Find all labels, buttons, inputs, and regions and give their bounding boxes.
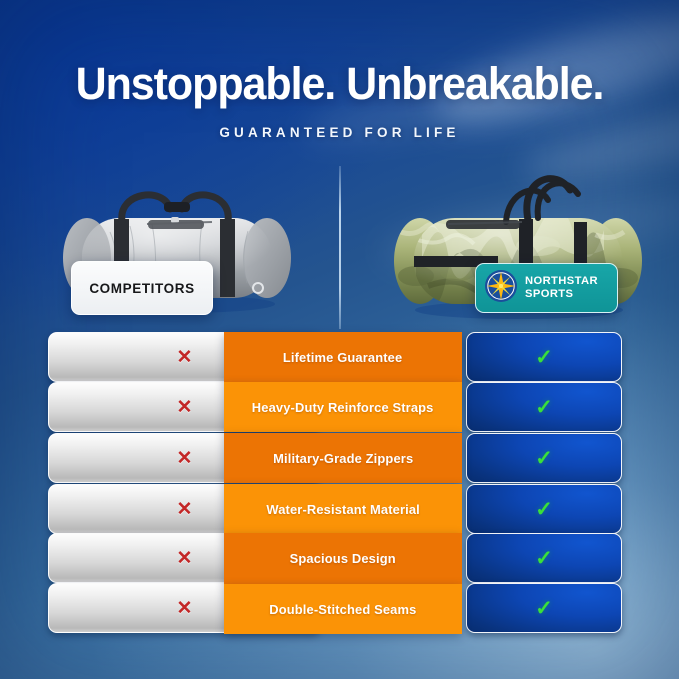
feature-label: Lifetime Guarantee [283, 350, 402, 365]
feature-label: Water-Resistant Material [266, 502, 420, 517]
cross-icon: ✕ [177, 500, 193, 519]
feature-label-column: Lifetime Guarantee Heavy-Duty Reinforce … [224, 332, 462, 634]
cross-icon: ✕ [177, 348, 193, 367]
feature-label-cell: Double-Stitched Seams [224, 584, 462, 634]
northstar-cell: ✓ [466, 484, 622, 534]
feature-label: Spacious Design [290, 551, 396, 566]
cross-icon: ✕ [177, 599, 193, 618]
northstar-cell: ✓ [466, 583, 622, 633]
feature-label-cell: Lifetime Guarantee [224, 332, 462, 382]
promo-graphic: Unstoppable. Unbreakable. GUARANTEED FOR… [0, 0, 679, 679]
northstar-cell: ✓ [466, 433, 622, 483]
cross-icon: ✕ [177, 398, 193, 417]
cross-icon: ✕ [177, 449, 193, 468]
comparison-table: ✕ ✓ ✕ ✓ ✕ ✓ ✕ [0, 0, 679, 679]
feature-label: Heavy-Duty Reinforce Straps [252, 400, 434, 415]
northstar-cell: ✓ [466, 332, 622, 382]
feature-label-cell: Spacious Design [224, 533, 462, 584]
check-icon: ✓ [535, 598, 553, 619]
check-icon: ✓ [535, 448, 553, 469]
check-icon: ✓ [535, 548, 553, 569]
northstar-cell: ✓ [466, 382, 622, 432]
check-icon: ✓ [535, 499, 553, 520]
northstar-cell: ✓ [466, 533, 622, 583]
feature-label: Double-Stitched Seams [269, 602, 416, 617]
check-icon: ✓ [535, 347, 553, 368]
feature-label-cell: Heavy-Duty Reinforce Straps [224, 382, 462, 432]
feature-label: Military-Grade Zippers [273, 451, 413, 466]
check-icon: ✓ [535, 397, 553, 418]
feature-label-cell: Water-Resistant Material [224, 484, 462, 534]
feature-label-cell: Military-Grade Zippers [224, 433, 462, 483]
cross-icon: ✕ [177, 549, 193, 568]
